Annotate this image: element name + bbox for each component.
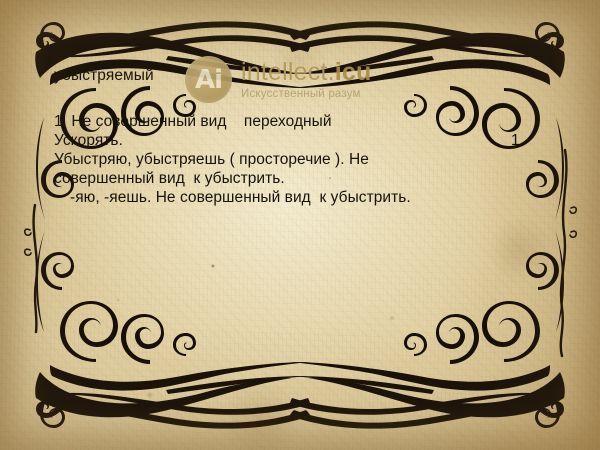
slide-canvas: Ai intellect.icu Искусственный разум убы… xyxy=(0,0,600,450)
entry-line: 1. Не совершенный вид переходный xyxy=(54,112,524,131)
entry-line: Ускорять.1. xyxy=(54,131,524,150)
entry-line-text: 1. Не совершенный вид переходный xyxy=(54,113,332,130)
entry-line-text: совершенный вид к убыстрить. xyxy=(54,170,285,187)
entry-line: Убыстряю, убыстряешь ( просторечие ). Не xyxy=(54,150,524,169)
entry-line-trailing-number: 1. xyxy=(511,131,524,150)
entry-line-text: -яю, -яешь. Не совершенный вид к убыстри… xyxy=(70,189,411,206)
entry-line: -яю, -яешь. Не совершенный вид к убыстри… xyxy=(54,188,524,207)
entry-line-text: Ускорять. xyxy=(54,132,123,149)
entry-line-text: Убыстряю, убыстряешь ( просторечие ). Не xyxy=(54,151,369,168)
entry-headword: убыстряемый xyxy=(54,67,154,85)
entry-content: убыстряемый 1. Не совершенный вид перехо… xyxy=(0,0,600,450)
entry-line: совершенный вид к убыстрить. xyxy=(54,169,524,188)
entry-definition-block: 1. Не совершенный вид переходныйУскорять… xyxy=(54,112,524,207)
